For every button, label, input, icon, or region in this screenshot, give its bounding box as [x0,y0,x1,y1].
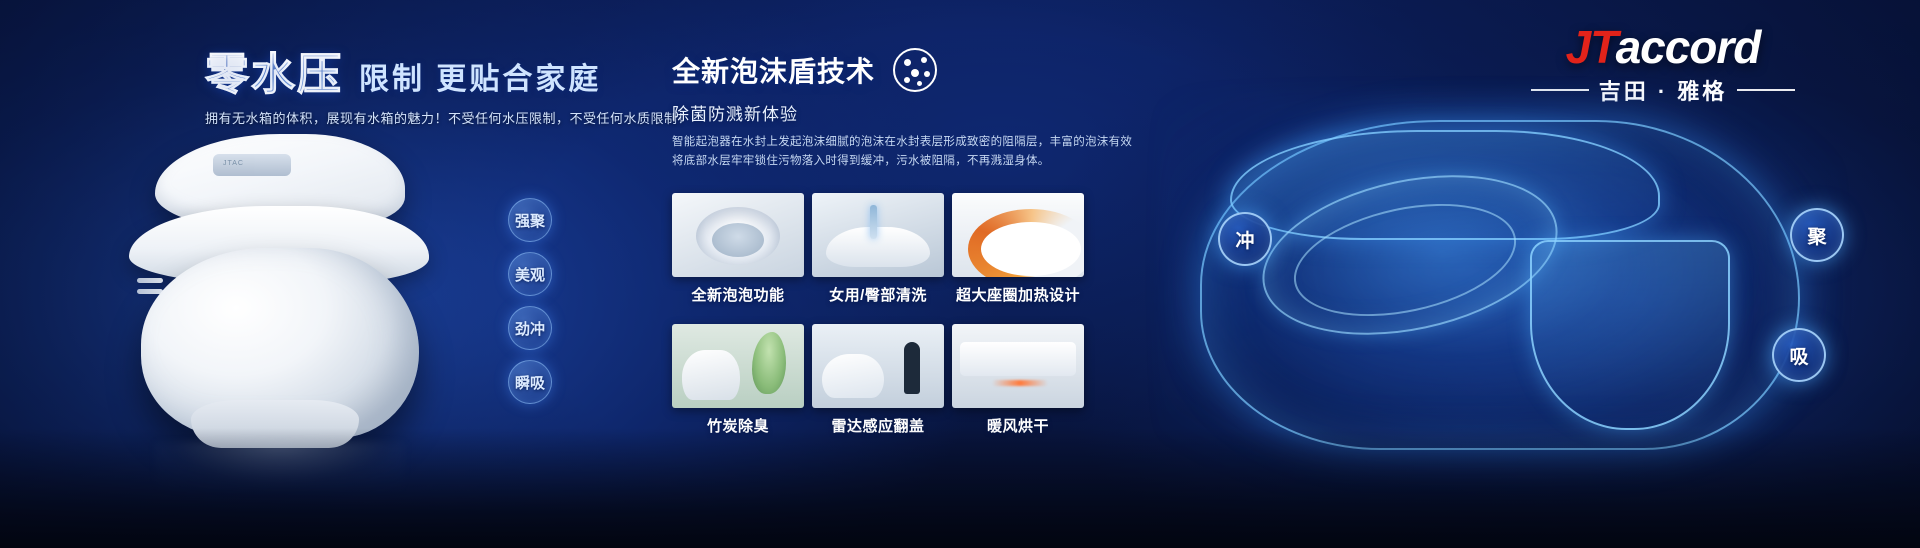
left-headline: 零水压 限制 更贴合家庭 [205,38,601,102]
xray-badge-gather[interactable]: 聚 [1790,208,1844,262]
feature-pill-list: 强聚 美观 劲冲 瞬吸 [508,198,552,414]
toilet-reflection [155,442,405,492]
brand-logo-jt: JT [1566,21,1616,73]
xray-badge-flush[interactable]: 冲 [1218,212,1272,266]
badge-aesthetic-label: 美观 [515,264,545,285]
badge-power-flush-label: 劲冲 [515,318,545,339]
feature-foam-function[interactable]: 全新泡泡功能 [672,193,804,305]
badge-strong-gather-label: 强聚 [515,210,545,231]
xray-badge-suction[interactable]: 吸 [1772,328,1826,382]
logo-rule-right [1737,89,1795,91]
center-section: 全新泡沫盾技术 除菌防溅新体验 智能起泡器在水封上发起泡沫细腻的泡沫在水封表层形… [660,0,1200,548]
headline-main-text: 零水压 [205,38,343,102]
feature-foam-function-caption: 全新泡泡功能 [672,284,804,305]
center-paragraph: 智能起泡器在水封上发起泡沫细腻的泡沫在水封表层形成致密的阻隔层，丰富的泡沫有效将… [672,133,1142,171]
left-section: 零水压 限制 更贴合家庭 拥有无水箱的体积，展现有水箱的魅力！不受任何水压限制，… [0,0,620,548]
toilet-control-panel: JTAC [213,154,291,176]
feature-grid: 全新泡泡功能 女用/臀部清洗 超大座圈加热设计 竹炭除臭 [672,193,1184,442]
brand-logo-wordmark: JTaccord [1498,24,1828,70]
badge-strong-gather[interactable]: 强聚 [508,198,552,242]
xray-badge-gather-label: 聚 [1807,222,1826,249]
foam-bubbles-icon [893,48,937,92]
feature-radar-sensor-lid[interactable]: 雷达感应翻盖 [812,324,944,436]
center-title: 全新泡沫盾技术 [672,50,875,90]
xray-badge-suction-label: 吸 [1789,342,1808,369]
brand-logo-cn-row: 吉田 · 雅格 [1498,74,1828,106]
toilet-side-buttons [137,278,163,300]
smart-toilet-illustration: JTAC [95,128,475,458]
feature-feminine-rear-wash-caption: 女用/臀部清洗 [812,284,944,305]
feature-bamboo-deodorize[interactable]: 竹炭除臭 [672,324,804,436]
feature-feminine-rear-wash-image [812,193,944,277]
xray-toilet-illustration: 冲 聚 吸 [1200,120,1800,450]
feature-warm-air-dry[interactable]: 暖风烘干 [952,324,1084,436]
feature-grid-row: 竹炭除臭 雷达感应翻盖 暖风烘干 [672,324,1184,436]
badge-instant-suction-label: 瞬吸 [515,372,545,393]
feature-radar-sensor-lid-caption: 雷达感应翻盖 [812,415,944,436]
feature-bamboo-deodorize-image [672,324,804,408]
feature-warm-air-dry-caption: 暖风烘干 [952,415,1084,436]
brand-logo-cn: 吉田 · 雅格 [1599,74,1728,106]
center-title-row: 全新泡沫盾技术 [672,48,937,92]
feature-radar-sensor-lid-image [812,324,944,408]
feature-heated-seat-image [952,193,1084,277]
brand-logo[interactable]: JTaccord 吉田 · 雅格 [1498,24,1828,106]
headline-sub-text: 限制 更贴合家庭 [359,54,601,98]
toilet-panel-label: JTAC [223,160,291,167]
logo-rule-left [1531,89,1589,91]
brand-logo-accord: accord [1616,21,1761,73]
left-subtitle: 拥有无水箱的体积，展现有水箱的魅力！不受任何水压限制，不受任何水质限制！ [205,108,691,127]
right-section: JTaccord 吉田 · 雅格 冲 聚 吸 [1130,0,1920,548]
badge-power-flush[interactable]: 劲冲 [508,306,552,350]
feature-feminine-rear-wash[interactable]: 女用/臀部清洗 [812,193,944,305]
feature-foam-function-image [672,193,804,277]
center-subtitle: 除菌防溅新体验 [672,100,798,125]
feature-heated-seat[interactable]: 超大座圈加热设计 [952,193,1084,305]
badge-instant-suction[interactable]: 瞬吸 [508,360,552,404]
toilet-base [191,400,359,448]
feature-bamboo-deodorize-caption: 竹炭除臭 [672,415,804,436]
feature-heated-seat-caption: 超大座圈加热设计 [952,284,1084,305]
xray-badge-flush-label: 冲 [1235,226,1254,253]
product-banner: 零水压 限制 更贴合家庭 拥有无水箱的体积，展现有水箱的魅力！不受任何水压限制，… [0,0,1920,548]
grid-spacer [672,311,1184,324]
badge-aesthetic[interactable]: 美观 [508,252,552,296]
feature-grid-row: 全新泡泡功能 女用/臀部清洗 超大座圈加热设计 [672,193,1184,305]
feature-warm-air-dry-image [952,324,1084,408]
